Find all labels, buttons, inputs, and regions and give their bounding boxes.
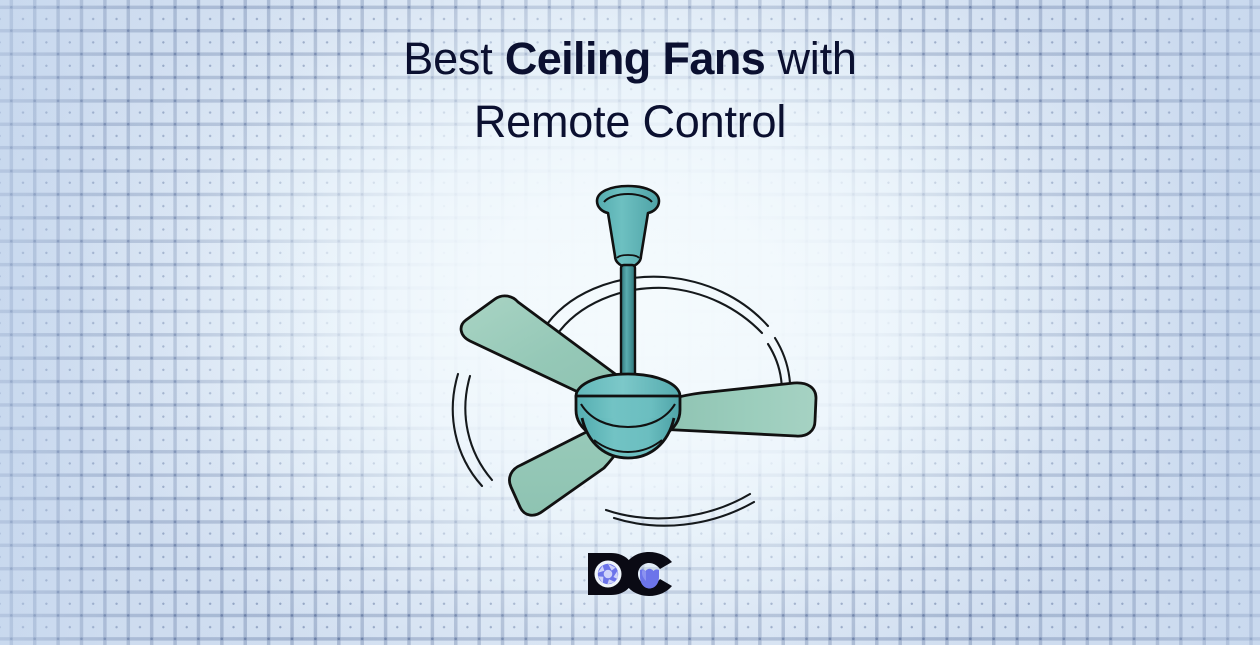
headline-line-1: Best Ceiling Fans with (0, 36, 1260, 81)
headline-suffix: with (765, 33, 857, 84)
headline-emphasis: Ceiling Fans (505, 33, 765, 84)
downrod (618, 265, 638, 390)
ceiling-canopy (597, 186, 659, 267)
headline-line-2: Remote Control (0, 99, 1260, 144)
headline: Best Ceiling Fans with Remote Control (0, 36, 1260, 144)
headline-prefix: Best (403, 33, 505, 84)
brand-logo[interactable] (0, 548, 1260, 600)
banner-canvas: Best Ceiling Fans with Remote Control (0, 0, 1260, 645)
ceiling-fan-illustration (438, 178, 836, 534)
camera-aperture-icon (598, 564, 618, 584)
